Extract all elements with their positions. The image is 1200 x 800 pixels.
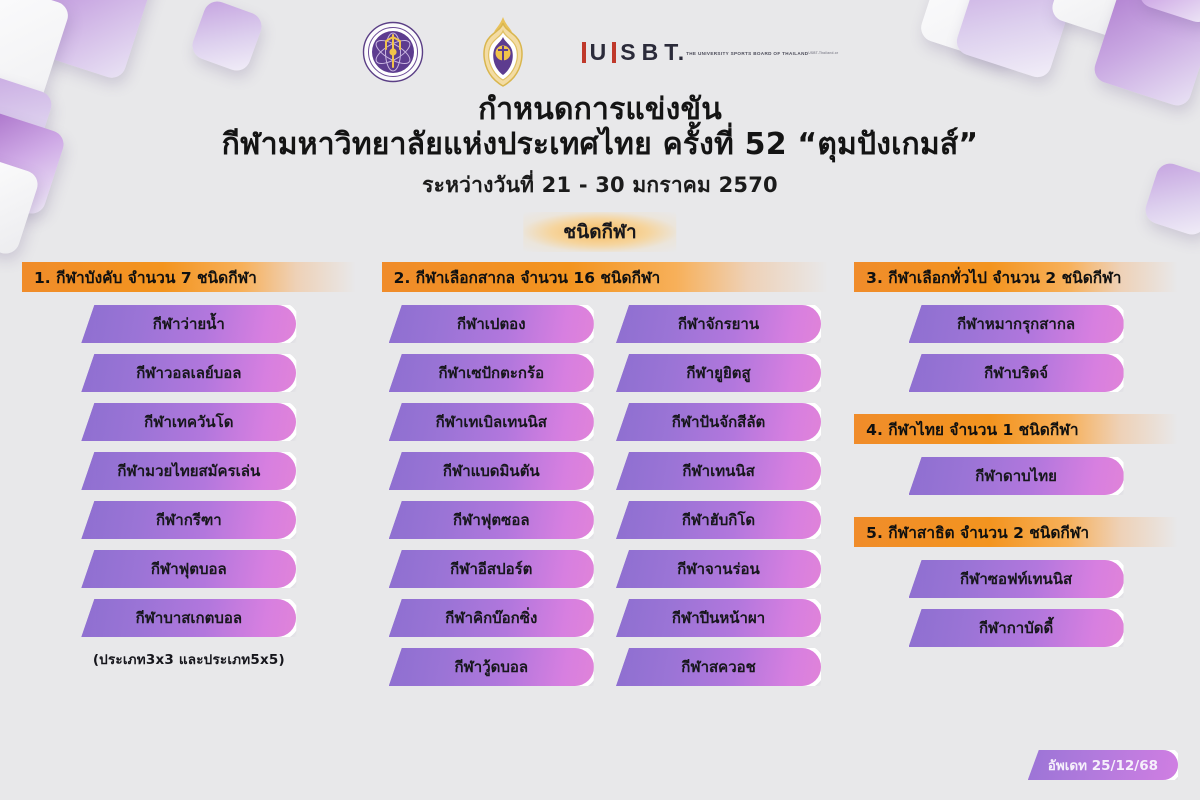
column-3: 3. กีฬาเลือกทั่วไป จำนวน 2 ชนิดกีฬา กีฬา… [854,262,1178,800]
sport-label: กีฬาเปตอง [457,312,525,336]
sport-label: กีฬาฟุตซอล [453,508,530,532]
list-item[interactable]: กีฬาซอฟท์เทนนิส [854,560,1178,598]
list-item[interactable]: กีฬาเซปักตะกร้อ [382,354,601,392]
sport-label: กีฬายูยิตสู [686,361,750,385]
sport-pill: กีฬาเทควันโด [81,403,296,441]
list-item[interactable]: กีฬาเปตอง [382,305,601,343]
sport-pill: กีฬาหมากรุกสากล [909,305,1124,343]
title-block: กำหนดการแข่งขัน กีฬามหาวิทยาลัยแห่งประเท… [0,92,1200,202]
sport-label: กีฬามวยไทยสมัครเล่น [117,459,260,483]
category-header-3: 3. กีฬาเลือกทั่วไป จำนวน 2 ชนิดกีฬา [854,262,1178,292]
sport-pill: กีฬากาบัดดี้ [909,609,1124,647]
category-header-4: 4. กีฬาไทย จำนวน 1 ชนิดกีฬา [854,414,1178,444]
sport-label: กีฬาจักรยาน [678,312,759,336]
sport-label: กีฬาบาสเกตบอล [136,606,243,630]
page-title-line1: กำหนดการแข่งขัน [0,92,1200,127]
sport-label: กีฬาเทควันโด [144,410,233,434]
column-2: 2. กีฬาเลือกสากล จำนวน 16 ชนิดกีฬา กีฬาเ… [382,262,829,800]
sport-pill: กีฬาซอฟท์เทนนิส [909,560,1124,598]
column-1: 1. กีฬาบังคับ จำนวน 7 ชนิดกีฬา กีฬาว่ายน… [22,262,356,800]
sport-label: กีฬาดาบไทย [975,464,1057,488]
sport-label: กีฬาแบดมินตัน [443,459,540,483]
list-item[interactable]: กีฬาวอลเลย์บอล [22,354,356,392]
sport-label: กีฬาฟุตบอล [151,557,227,581]
category-header-2: 2. กีฬาเลือกสากล จำนวน 16 ชนิดกีฬา [382,262,829,292]
sport-label: กีฬาจานร่อน [677,557,760,581]
sport-label: กีฬาวอลเลย์บอล [136,361,241,385]
logo-row: U S B T. THE UNIVERSITY SPORTS BOARD OF … [0,12,1200,92]
list-item[interactable]: กีฬาฮับกิโด [609,501,828,539]
list-item[interactable]: กีฬาวู้ดบอล [382,648,601,686]
list-item[interactable]: กีฬาฟุตซอล [382,501,601,539]
list-item[interactable]: กีฬาหมากรุกสากล [854,305,1178,343]
usbt-red-bar-right [612,42,616,63]
usbt-subtitle-secondary: USBT-Thailand.or [808,51,838,56]
sport-pill: กีฬายูยิตสู [616,354,821,392]
sport-pill: กีฬาเปตอง [389,305,594,343]
sport-label: กีฬาวู้ดบอล [454,655,528,679]
list-item[interactable]: กีฬาแบดมินตัน [382,452,601,490]
sport-label: กีฬาอีสปอร์ต [450,557,532,581]
sport-label: กีฬาเทเบิลเทนนิส [436,410,547,434]
sport-pill: กีฬาวู้ดบอล [389,648,594,686]
sport-pill: กีฬามวยไทยสมัครเล่น [81,452,296,490]
usbt-letter-t: T. [664,41,686,64]
sport-label: กีฬากรีฑา [156,508,222,532]
university-sports-seal-logo [362,21,424,83]
sport-pill: กีฬาว่ายน้ำ [81,305,296,343]
sport-pill: กีฬาเทนนิส [616,452,821,490]
update-date-badge: อัพเดท 25/12/68 [1028,750,1178,780]
sport-label: กีฬาเทนนิส [682,459,754,483]
sport-pill: กีฬาเทเบิลเทนนิส [389,403,594,441]
list-item[interactable]: กีฬาสควอช [609,648,828,686]
sport-label: กีฬากาบัดดี้ [979,616,1053,640]
sport-pill: กีฬากรีฑา [81,501,296,539]
list-item[interactable]: กีฬาปันจักสีลัต [609,403,828,441]
list-item[interactable]: กีฬาเทเบิลเทนนิส [382,403,601,441]
category-2-two-column-list: กีฬาเปตอง กีฬาเซปักตะกร้อ กีฬาเทเบิลเทนน… [382,305,829,697]
list-item[interactable]: กีฬาคิกบ๊อกซิ่ง [382,599,601,637]
usbt-red-bar-left [582,42,586,63]
usbt-logo: U S B T. THE UNIVERSITY SPORTS BOARD OF … [582,41,839,64]
sport-pill: กีฬาปีนหน้าผา [616,599,821,637]
usbt-letter-s: S [620,41,637,64]
sport-pill: กีฬาบาสเกตบอล [81,599,296,637]
list-item[interactable]: กีฬาดาบไทย [854,457,1178,495]
list-item[interactable]: กีฬาปีนหน้าผา [609,599,828,637]
sport-pill: กีฬาคิกบ๊อกซิ่ง [389,599,594,637]
sport-pill: กีฬาวอลเลย์บอล [81,354,296,392]
sport-label: กีฬาคิกบ๊อกซิ่ง [445,606,537,630]
list-item[interactable]: กีฬาฟุตบอล [22,550,356,588]
list-item[interactable]: กีฬาเทนนิส [609,452,828,490]
category-header-1: 1. กีฬาบังคับ จำนวน 7 ชนิดกีฬา [22,262,356,292]
royal-crest-emblem-logo [470,15,536,89]
category-2-left-list: กีฬาเปตอง กีฬาเซปักตะกร้อ กีฬาเทเบิลเทนน… [382,305,601,697]
sport-pill: กีฬาแบดมินตัน [389,452,594,490]
usbt-subtitle: THE UNIVERSITY SPORTS BOARD OF THAILAND [686,51,808,58]
sport-label: กีฬาฮับกิโด [682,508,755,532]
sport-pill: กีฬาบริดจ์ [909,354,1124,392]
list-item[interactable]: กีฬาอีสปอร์ต [382,550,601,588]
sport-pill: กีฬาฮับกิโด [616,501,821,539]
section-label-sport-types: ชนิดกีฬา [523,212,676,252]
usbt-lettermark: U S B T. [582,41,686,64]
usbt-letter-u: U [590,41,609,64]
list-item[interactable]: กีฬาจักรยาน [609,305,828,343]
page-title-line2: กีฬามหาวิทยาลัยแห่งประเทศไทย ครั้งที่ 52… [0,127,1200,164]
sport-pill: กีฬาฟุตซอล [389,501,594,539]
sport-label: กีฬาเซปักตะกร้อ [438,361,544,385]
list-item[interactable]: กีฬาบาสเกตบอล [22,599,356,637]
sport-label: กีฬาปีนหน้าผา [672,606,765,630]
sport-label: กีฬาบริดจ์ [984,361,1048,385]
sport-label: กีฬาว่ายน้ำ [153,312,225,336]
sport-pill: กีฬาจานร่อน [616,550,821,588]
category-2-right-list: กีฬาจักรยาน กีฬายูยิตสู กีฬาปันจักสีลัต … [609,305,828,697]
sport-pill: กีฬาฟุตบอล [81,550,296,588]
sport-label: กีฬาซอฟท์เทนนิส [960,567,1072,591]
list-item[interactable]: กีฬากาบัดดี้ [854,609,1178,647]
sport-label: กีฬาสควอช [681,655,756,679]
sport-pill: กีฬาเซปักตะกร้อ [389,354,594,392]
categories-grid: 1. กีฬาบังคับ จำนวน 7 ชนิดกีฬา กีฬาว่ายน… [0,262,1200,800]
usbt-letter-b: B [642,41,661,64]
list-item[interactable]: กีฬาเทควันโด [22,403,356,441]
basketball-format-note: (ประเภท3x3 และประเภท5x5) [22,648,356,670]
sport-pill: กีฬาจักรยาน [616,305,821,343]
list-item[interactable]: กีฬายูยิตสู [609,354,828,392]
sport-label: กีฬาหมากรุกสากล [957,312,1075,336]
sport-label: กีฬาปันจักสีลัต [672,410,766,434]
sport-pill: กีฬาปันจักสีลัต [616,403,821,441]
list-item[interactable]: กีฬามวยไทยสมัครเล่น [22,452,356,490]
event-dates: ระหว่างวันที่ 21 - 30 มกราคม 2570 [0,169,1200,202]
list-item[interactable]: กีฬาบริดจ์ [854,354,1178,392]
category-header-5: 5. กีฬาสาธิต จำนวน 2 ชนิดกีฬา [854,517,1178,547]
seal-icon [362,21,424,83]
list-item[interactable]: กีฬากรีฑา [22,501,356,539]
crest-icon [470,15,536,89]
sport-pill: กีฬาอีสปอร์ต [389,550,594,588]
poster-canvas: U S B T. THE UNIVERSITY SPORTS BOARD OF … [0,0,1200,800]
sport-pill: กีฬาดาบไทย [909,457,1124,495]
list-item[interactable]: กีฬาว่ายน้ำ [22,305,356,343]
list-item[interactable]: กีฬาจานร่อน [609,550,828,588]
sport-pill: กีฬาสควอช [616,648,821,686]
